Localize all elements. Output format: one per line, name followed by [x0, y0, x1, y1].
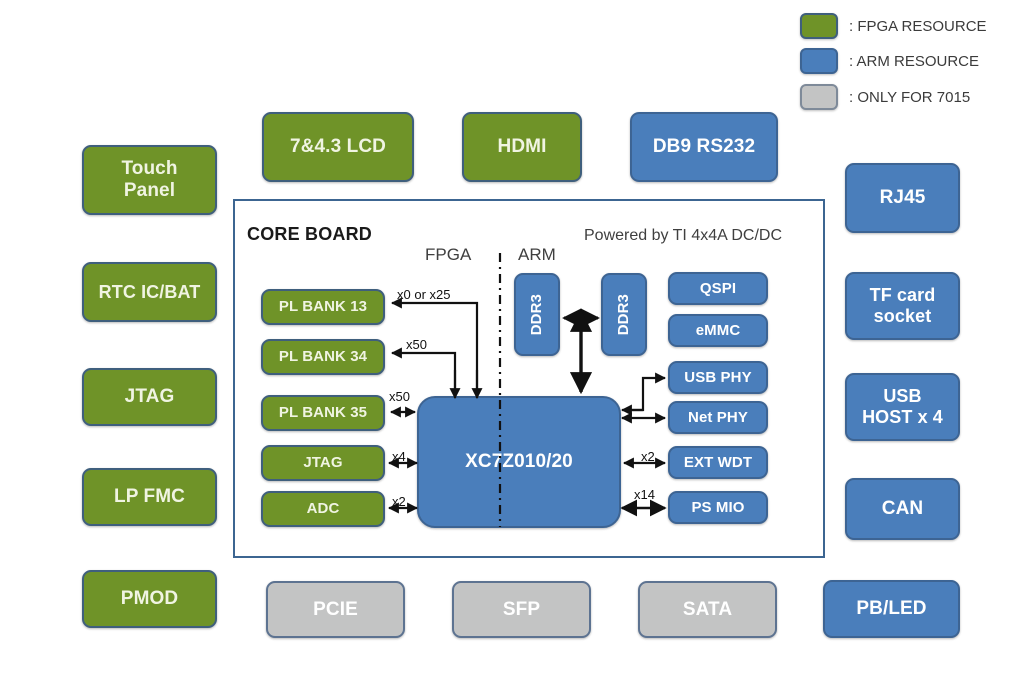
- legend-item-only-7015: : ONLY FOR 7015: [800, 84, 970, 110]
- legend-swatch-arm-resource: [800, 48, 838, 74]
- power-note-label: Powered by TI 4x4A DC/DC: [584, 227, 782, 245]
- block-pl-bank-34[interactable]: PL BANK 34: [261, 339, 385, 375]
- block-hdmi[interactable]: HDMI: [462, 112, 582, 182]
- block-usb-phy[interactable]: USB PHY: [668, 361, 768, 394]
- bus-label-pl-bank-35: x50: [389, 389, 410, 404]
- block-touch-panel[interactable]: Touch Panel: [82, 145, 217, 215]
- block-emmc[interactable]: eMMC: [668, 314, 768, 347]
- block-rtc-ic-bat[interactable]: RTC IC/BAT: [82, 262, 217, 322]
- block-qspi[interactable]: QSPI: [668, 272, 768, 305]
- legend-swatch-fpga-resource: [800, 13, 838, 39]
- block-db9-rs232[interactable]: DB9 RS232: [630, 112, 778, 182]
- block-pl-bank-35[interactable]: PL BANK 35: [261, 395, 385, 431]
- block-ddr3-right[interactable]: DDR3: [601, 273, 647, 356]
- legend-label-fpga-resource: : FPGA RESOURCE: [849, 18, 987, 35]
- bus-label-ps-mio: x14: [634, 487, 655, 502]
- bus-label-ext-wdt: x2: [641, 449, 655, 464]
- arm-domain-label: ARM: [518, 245, 556, 265]
- block-net-phy[interactable]: Net PHY: [668, 401, 768, 434]
- block-pl-bank-13[interactable]: PL BANK 13: [261, 289, 385, 325]
- block-adc[interactable]: ADC: [261, 491, 385, 527]
- block-ddr3-right-label: DDR3: [615, 294, 632, 335]
- block-ext-wdt[interactable]: EXT WDT: [668, 446, 768, 479]
- fpga-domain-label: FPGA: [425, 245, 471, 265]
- block-ddr3-left-label: DDR3: [528, 294, 545, 335]
- bus-label-pl-bank-13: x0 or x25: [397, 287, 450, 302]
- block-lcd[interactable]: 7&4.3 LCD: [262, 112, 414, 182]
- block-usb-host[interactable]: USB HOST x 4: [845, 373, 960, 441]
- block-tf-card-socket[interactable]: TF card socket: [845, 272, 960, 340]
- core-board-title: CORE BOARD: [247, 224, 372, 245]
- block-ddr3-left[interactable]: DDR3: [514, 273, 560, 356]
- block-pmod[interactable]: PMOD: [82, 570, 217, 628]
- legend-item-arm-resource: : ARM RESOURCE: [800, 48, 979, 74]
- legend-item-fpga-resource: : FPGA RESOURCE: [800, 13, 987, 39]
- legend-label-only-7015: : ONLY FOR 7015: [849, 89, 970, 106]
- bus-label-adc: x2: [392, 494, 406, 509]
- block-diagram-canvas: : FPGA RESOURCE : ARM RESOURCE : ONLY FO…: [0, 0, 1016, 675]
- bus-label-jtag: x4: [392, 449, 406, 464]
- block-jtag-external[interactable]: JTAG: [82, 368, 217, 426]
- block-pb-led[interactable]: PB/LED: [823, 580, 960, 638]
- block-jtag-core[interactable]: JTAG: [261, 445, 385, 481]
- block-soc-xc7z[interactable]: XC7Z010/20: [417, 396, 621, 528]
- legend-label-arm-resource: : ARM RESOURCE: [849, 53, 979, 70]
- block-lp-fmc[interactable]: LP FMC: [82, 468, 217, 526]
- block-can[interactable]: CAN: [845, 478, 960, 540]
- block-sata[interactable]: SATA: [638, 581, 777, 638]
- bus-label-pl-bank-34: x50: [406, 337, 427, 352]
- block-ps-mio[interactable]: PS MIO: [668, 491, 768, 524]
- block-pcie[interactable]: PCIE: [266, 581, 405, 638]
- block-rj45[interactable]: RJ45: [845, 163, 960, 233]
- block-sfp[interactable]: SFP: [452, 581, 591, 638]
- legend-swatch-only-7015: [800, 84, 838, 110]
